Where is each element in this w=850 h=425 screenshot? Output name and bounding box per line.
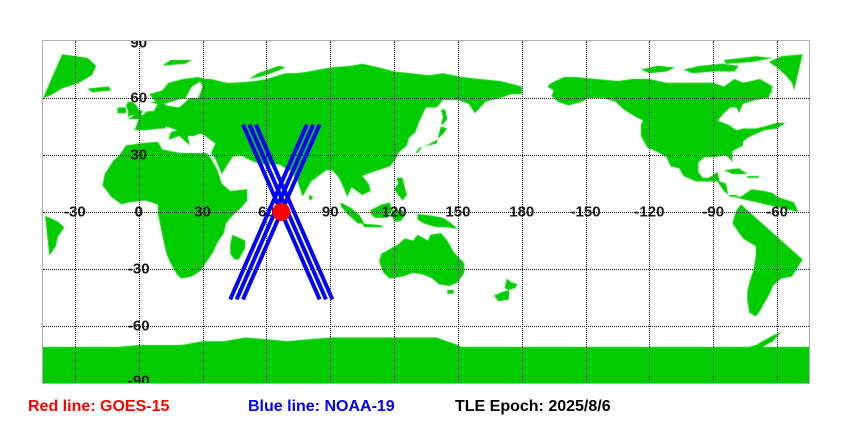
legend-blue-line-noaa19: Blue line: NOAA-19 (248, 394, 395, 420)
satellite-ground-track-map: -300306090120150180-150-120-90-609060300… (0, 0, 850, 425)
legend-red-line-goes15: Red line: GOES-15 (28, 394, 169, 420)
world-map-landmass (43, 41, 809, 383)
map-plot-area: -300306090120150180-150-120-90-609060300… (42, 40, 810, 384)
legend: Red line: GOES-15 Blue line: NOAA-19 TLE… (0, 394, 850, 420)
legend-tle-epoch: TLE Epoch: 2025/8/6 (455, 394, 611, 420)
